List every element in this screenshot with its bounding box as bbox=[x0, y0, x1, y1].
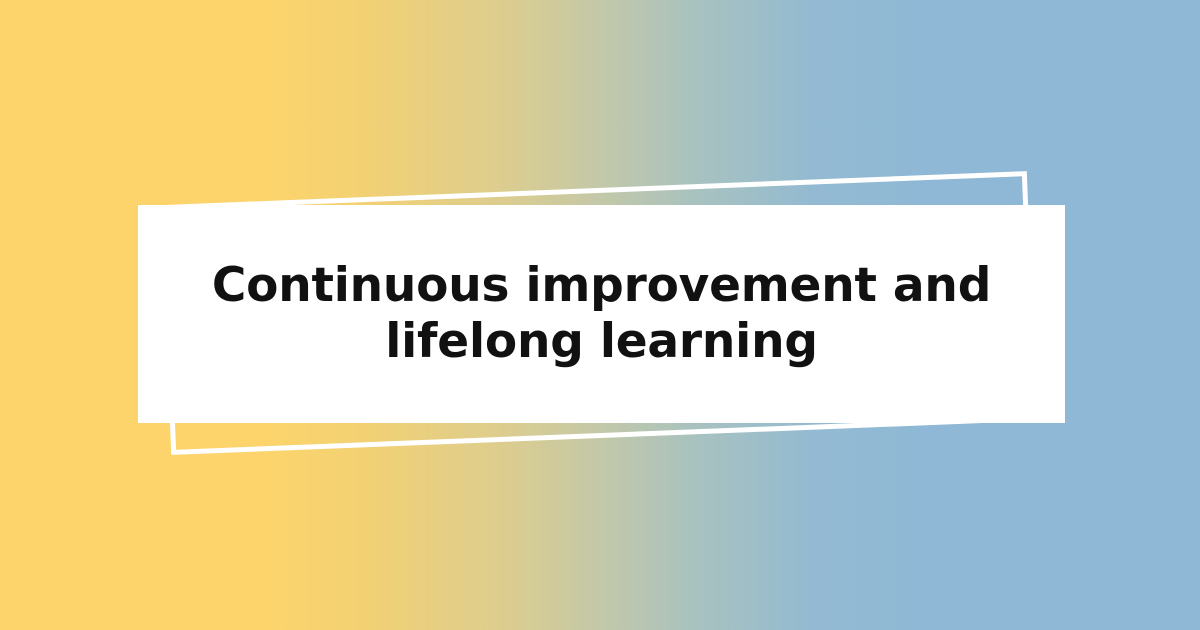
poster-canvas: Continuous improvement and lifelong lear… bbox=[0, 0, 1200, 630]
headline-card: Continuous improvement and lifelong lear… bbox=[138, 205, 1065, 423]
page-title: Continuous improvement and lifelong lear… bbox=[138, 258, 1065, 371]
